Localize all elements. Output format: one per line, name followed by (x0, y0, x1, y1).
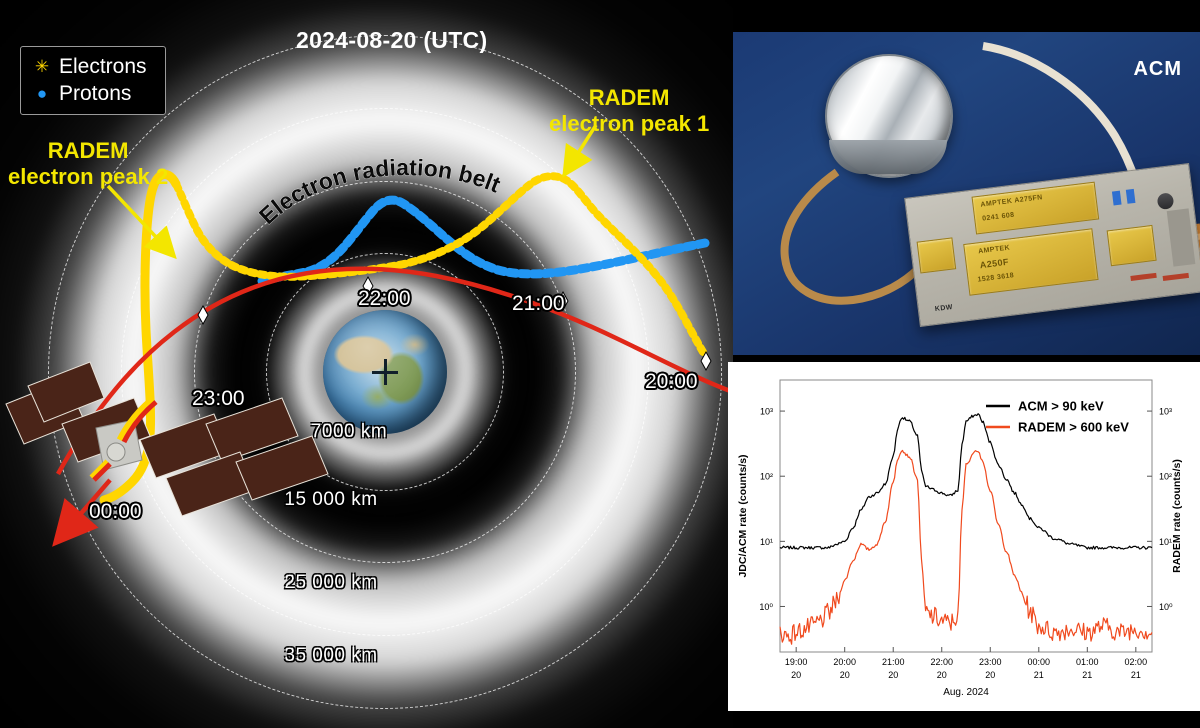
component-trimmer-2 (1126, 189, 1136, 204)
annotation-peak1-line2: electron peak 1 (549, 111, 709, 137)
x-tick-time: 23:00 (979, 657, 1002, 667)
belt-label-text: Electron radiation belt (258, 154, 505, 229)
orbit-diagram-panel: 7000 km 15 000 km 25 000 km 35 000 km (0, 0, 733, 728)
annotation-peak1-line1: RADEM (549, 85, 709, 111)
svg-text:Electron radiation belt: Electron radiation belt (258, 154, 505, 229)
orbit-time-label-2000: 20:00 (645, 370, 698, 394)
y2-axis-title: RADEM rate (counts/s) (1171, 459, 1183, 573)
x-tick-time: 02:00 (1125, 657, 1148, 667)
legend-label-1: RADEM > 600 keV (1018, 420, 1129, 435)
y2-tick-label: 10⁰ (1159, 602, 1173, 612)
y-tick-label: 10² (760, 472, 773, 482)
orbit-time-markers (198, 277, 711, 370)
spacecraft-juice (6, 362, 328, 516)
orbit-time-label-2300: 23:00 (192, 387, 245, 411)
figure-root: 7000 km 15 000 km 25 000 km 35 000 km (0, 0, 1200, 728)
orbit-time-label-0000: 00:00 (89, 500, 142, 524)
annotation-peak2-line2: electron peak 2 (8, 164, 168, 190)
orbit-time-label-2100: 21:00 (512, 292, 565, 316)
legend-row-protons: ● Protons (31, 80, 147, 107)
radiation-rate-chart: 10⁰10⁰10¹10¹10²10²10³10³19:002020:002021… (728, 362, 1200, 711)
x-tick-time: 20:00 (833, 657, 856, 667)
component-header (1167, 208, 1196, 266)
radiation-rate-chart-panel: 10⁰10⁰10¹10¹10²10²10³10³19:002020:002021… (728, 362, 1200, 711)
x-tick-day: 20 (937, 670, 947, 680)
x-tick-day: 20 (791, 670, 801, 680)
x-tick-time: 21:00 (882, 657, 905, 667)
legend-label-electrons: Electrons (59, 55, 147, 79)
y-tick-label: 10⁰ (759, 602, 773, 612)
y-tick-label: 10³ (760, 407, 773, 417)
x-tick-day: 20 (840, 670, 850, 680)
x-tick-day: 21 (1131, 670, 1141, 680)
x-tick-day: 20 (888, 670, 898, 680)
protons-marker-icon: ● (31, 85, 53, 102)
x-tick-day: 20 (985, 670, 995, 680)
component-diode-2 (1163, 273, 1189, 281)
x-tick-time: 19:00 (785, 657, 808, 667)
y-tick-label: 10¹ (760, 537, 773, 547)
y-axis-title: JDC/ACM rate (counts/s) (737, 454, 749, 577)
figure-title: 2024-08-20 (UTC) (296, 27, 487, 54)
chip-a275fn (972, 182, 1100, 235)
annotation-peak2-line1: RADEM (8, 138, 168, 164)
legend-label-0: ACM > 90 keV (1018, 399, 1104, 414)
annotation-electron-peak-1: RADEM electron peak 1 (549, 85, 709, 136)
x-tick-day: 21 (1034, 670, 1044, 680)
legend-row-electrons: ✳ Electrons (31, 53, 147, 80)
electrons-marker-icon: ✳ (31, 58, 53, 75)
orbit-time-label-2200: 22:00 (358, 287, 411, 311)
y2-tick-label: 10³ (1159, 407, 1172, 417)
chip-kdw-text: KDW (935, 304, 954, 313)
electron-radiation-belt-label: Electron radiation belt (258, 150, 548, 240)
acm-hardware-photo-panel: AMPTEK A275FN 0241 608 AMPTEK A250F 1528… (733, 32, 1200, 355)
x-tick-time: 00:00 (1028, 657, 1051, 667)
component-trimmer-1 (1112, 191, 1122, 206)
component-can (1157, 192, 1175, 210)
component-diode-1 (1130, 273, 1156, 281)
chip-small-right (1107, 225, 1157, 266)
acm-panel-label: ACM (1133, 58, 1182, 81)
particle-legend: ✳ Electrons ● Protons (20, 46, 166, 115)
legend-label-protons: Protons (59, 82, 131, 106)
x-tick-time: 22:00 (930, 657, 953, 667)
annotation-electron-peak-2: RADEM electron peak 2 (8, 138, 168, 189)
x-tick-time: 01:00 (1076, 657, 1099, 667)
peak2-arrow (108, 186, 172, 254)
acm-braided-cable (785, 172, 919, 301)
x-axis-title: Aug. 2024 (943, 687, 989, 698)
chip-left-block (917, 237, 957, 273)
x-tick-day: 21 (1082, 670, 1092, 680)
